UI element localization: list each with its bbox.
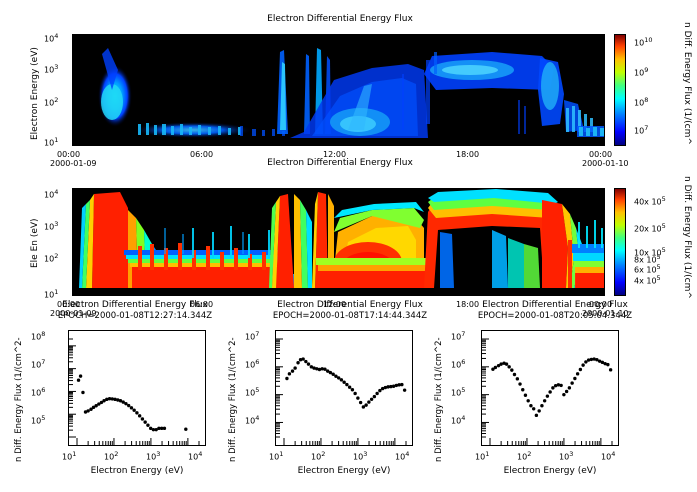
- line-panel-1-xtick-2: 102: [104, 450, 118, 462]
- panel2-ylabel: Ele En (eV): [30, 218, 40, 268]
- line-panel-1-xtick-4: 104: [188, 450, 202, 462]
- line-panel-3-ytick-6: 106: [451, 358, 465, 370]
- panel2-cbar-tick-6: 6x 105: [634, 263, 661, 275]
- panel1-cbar-title: n Diff. Energy Flux (1/(cm^: [682, 22, 692, 145]
- line-panel-1-xtick-3: 103: [146, 450, 160, 462]
- panel2-cbar-tick-40: 40x 105: [634, 195, 666, 207]
- panel1-xtick-4-date: 2000-01-10: [582, 159, 629, 168]
- line-panel-1-title: Electron Differential Energy Flux: [35, 300, 235, 310]
- line-panel-1-xlabel: Electron Energy (eV): [68, 466, 206, 476]
- line-panel-2-points: [276, 331, 412, 445]
- line-panel-3-xlabel: Electron Energy (eV): [481, 466, 619, 476]
- line-panel-3-xtick-2: 102: [517, 450, 531, 462]
- panel2-title: Electron Differential Energy Flux: [180, 158, 500, 168]
- line-panel-2-xtick-2: 102: [311, 450, 325, 462]
- line-panel-2-plot[interactable]: [275, 330, 413, 446]
- line-panel-1-ylabel: n Diff. Energy Flux (1/(cm^2-: [14, 337, 24, 462]
- line-panel-2-xtick-1: 101: [269, 450, 283, 462]
- line-panel-1-ytick-5: 105: [31, 414, 45, 426]
- line-panel-2-ylabel: n Diff. Energy Flux (1/(cm^2-: [228, 337, 238, 462]
- line-panel-1-plot[interactable]: [68, 330, 206, 446]
- line-panel-2-ytick-4: 104: [245, 414, 259, 426]
- line-panel-3-ytick-4: 104: [451, 414, 465, 426]
- panel2-ytick-3: 103: [44, 220, 58, 232]
- panel1-cbar-tick-10: 1010: [634, 36, 652, 48]
- panel2-ytick-1: 101: [44, 288, 58, 300]
- line-panel-3-ylabel: n Diff. Energy Flux (1/(cm^2-: [434, 337, 444, 462]
- panel2-cbar-tick-4: 4x 105: [634, 274, 661, 286]
- panel1-xtick-0-date: 2000-01-09: [50, 159, 97, 168]
- panel1-cbar-tick-8: 108: [634, 96, 648, 108]
- panel2-ytick-2: 102: [44, 252, 58, 264]
- panel1-frame: [72, 34, 605, 146]
- line-panel-3-xtick-4: 104: [601, 450, 615, 462]
- line-panel-3-title: Electron Differential Energy Flux: [455, 300, 655, 310]
- line-panel-1-ytick-8: 108: [31, 330, 45, 342]
- panel1-colorbar[interactable]: [614, 34, 626, 146]
- line-panel-3-xtick-3: 103: [559, 450, 573, 462]
- panel2-cbar-tick-20: 20x 105: [634, 222, 666, 234]
- line-panel-3-points: [482, 331, 618, 445]
- panel1-cbar-tick-9: 109: [634, 66, 648, 78]
- line-panel-3-subtitle: EPOCH=2000-01-08T20:05:04.344Z: [440, 311, 670, 321]
- line-panel-2-ytick-5: 105: [245, 386, 259, 398]
- line-panel-3-ytick-7: 107: [451, 330, 465, 342]
- panel2-cbar-title-group: n Diff. Energy Flux (1/(cm^: [692, 176, 697, 186]
- panel1-ytick-1: 101: [44, 136, 58, 148]
- line-panel-1-xtick-1: 101: [62, 450, 76, 462]
- line-panel-2-xlabel: Electron Energy (eV): [275, 466, 413, 476]
- line-panel-3-plot[interactable]: [481, 330, 619, 446]
- panel2-frame: [72, 188, 605, 296]
- line-panel-2-subtitle: EPOCH=2000-01-08T17:14:44.344Z: [235, 311, 465, 321]
- panel1-cbar-tick-7: 107: [634, 124, 648, 136]
- line-panel-1-ytick-7: 107: [31, 358, 45, 370]
- line-panel-2-xtick-3: 103: [353, 450, 367, 462]
- panel1-xtick-0: 00:00: [57, 150, 80, 159]
- panel2-cbar-title: n Diff. Energy Flux (1/(cm^: [682, 176, 692, 299]
- line-panel-2-ytick-7: 107: [245, 330, 259, 342]
- line-panel-2-ytick-6: 106: [245, 358, 259, 370]
- line-panel-1-ytick-6: 106: [31, 386, 45, 398]
- panel1-ytick-2: 102: [44, 96, 58, 108]
- line-panel-3-xtick-1: 101: [475, 450, 489, 462]
- panel1-ytick-3: 103: [44, 63, 58, 75]
- panel1-ylabel: Electron Energy (eV): [30, 47, 40, 140]
- line-panel-2-title: Electron Differential Energy Flux: [250, 300, 450, 310]
- line-panel-3-ytick-5: 105: [451, 386, 465, 398]
- panel1-ytick-4: 104: [44, 32, 58, 44]
- panel1-title: Electron Differential Energy Flux: [180, 14, 500, 24]
- panel2-colorbar[interactable]: [614, 188, 626, 296]
- line-panel-2-xtick-4: 104: [395, 450, 409, 462]
- panel1-cbar-title-group: n Diff. Energy Flux (1/(cm^: [692, 22, 697, 32]
- line-panel-1-subtitle: EPOCH=2000-01-08T12:27:14.344Z: [20, 311, 250, 321]
- panel2-ytick-4: 104: [44, 188, 58, 200]
- panel1-xtick-4: 00:00: [589, 150, 612, 159]
- line-panel-1-points: [69, 331, 205, 445]
